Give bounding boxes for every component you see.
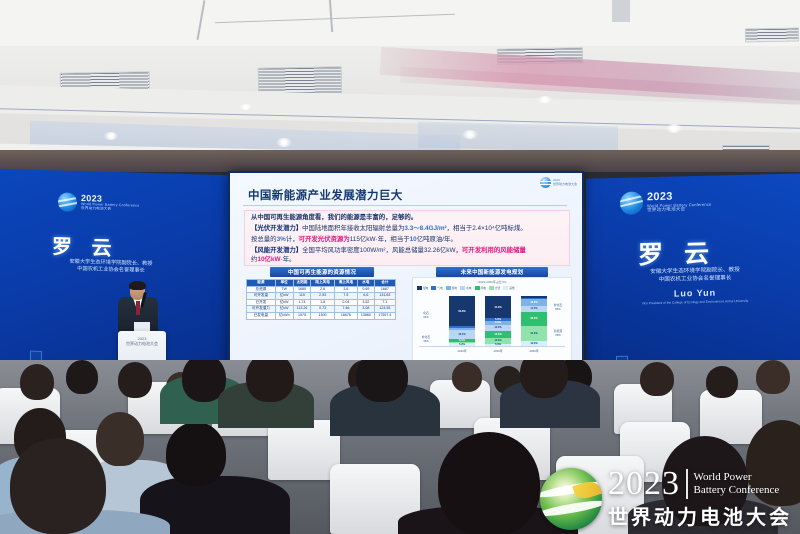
wind-value-1: 100W/m² (360, 247, 386, 254)
table-header-cell: 合计 (374, 280, 395, 287)
table-cell: 1.74 (293, 299, 311, 306)
table-cell: 1680 (293, 286, 311, 293)
energy-mix-chart: (2020-2060年占比/%) 煤电气电核电水电风电光伏其他 60.8%16.… (412, 277, 572, 363)
table-cell: 0.04 (334, 299, 357, 306)
pv2-value-3: 10 (410, 236, 417, 243)
chart-x-label: 2030年 (483, 349, 513, 353)
pv-text-a: 中国陆地面积年接收太阳辐射总量为 (302, 225, 404, 232)
table-row: 已发电量 亿kWh 1575 1500 16676 13860 17557.4 (247, 312, 396, 319)
chart-bar-segment: 44.0% (485, 296, 511, 318)
table-cell: 亿kWh (275, 312, 293, 319)
slide-corner-logo-text: 2023 世界动力电池大会 (553, 179, 577, 187)
left-screen-speaker-org: 安徽大学生态环境学院副院长、教授 中国农机工业协会名誉理事长 (16, 257, 206, 276)
audience-head (118, 362, 152, 398)
chart-legend-item: 光伏 (489, 286, 500, 290)
table-header-cell: 海上风电 (334, 280, 357, 287)
legend-label: 核电 (452, 286, 457, 290)
table-cell: TW (275, 286, 293, 293)
table-row: 可开发量 亿kW 115 2.53 7.5 6.6 131.63 (247, 293, 396, 300)
legend-swatch (446, 286, 451, 289)
table-cell: 已开发 (247, 299, 276, 306)
slide-pv-line-2: 按总量的3%计，可开发光伏资源为115亿kW·年，相当于10亿吨原油/年。 (251, 237, 457, 243)
pv2-text-c: ，相当于 (384, 236, 410, 243)
watermark-en-line-1: World Power (694, 471, 780, 484)
legend-swatch (417, 286, 422, 289)
table-cell: 2.53 (311, 293, 334, 300)
wind-value-2: 32.26亿kW (424, 247, 456, 254)
legend-swatch (489, 286, 494, 289)
left-screen-logo: 2023 World Power Battery Conference 世界动力… (58, 192, 139, 213)
table-row: 可开发潜力 亿kW 113.26 0.73 7.46 3.08 124.55 (247, 306, 396, 313)
audience-head (246, 360, 294, 402)
left-screen-logo-text: 2023 World Power Battery Conference 世界动力… (81, 194, 139, 213)
logo-year: 2023 (647, 191, 673, 204)
audience-head (438, 432, 540, 534)
table-header-cell: 陆上风电 (311, 280, 334, 287)
corner-logo-cn: 世界动力电池大会 (553, 183, 577, 187)
right-screen-speaker-name: 罗 云 (638, 234, 716, 272)
wind2-text-b: ·年。 (280, 256, 295, 263)
table-cell: 可开发量 (247, 293, 276, 300)
legend-label: 水电 (466, 286, 471, 290)
legend-label: 光伏 (495, 286, 500, 290)
downlight (276, 138, 292, 147)
table-cell: 0.69 (358, 286, 375, 293)
table-row: 总资源 TW 1680 2.6 3.6 0.69 1687 (247, 286, 396, 293)
table-cell: 3.08 (358, 306, 375, 313)
table-cell: 1500 (311, 312, 334, 319)
table-caption: 中国可再生能源的资源情况 (270, 267, 374, 277)
pv-value-2: 2.4×10⁴ (472, 225, 494, 232)
chart-x-label: 2020年 (447, 349, 477, 353)
table-cell: 1.8 (311, 299, 334, 306)
chart-legend-item: 煤电 (417, 286, 428, 290)
pv2-text-b: 计， (286, 236, 299, 243)
logo-cn: 世界动力电池大会 (647, 207, 711, 213)
pv2-text-d: 亿吨原油/年。 (417, 236, 457, 243)
chart-bar-segment: 14.0% (521, 299, 547, 306)
downlight (538, 96, 552, 103)
wind-label: 【风能开发潜力】 (251, 247, 302, 254)
globe-icon (58, 192, 77, 212)
chart-annotation-left-1: 化石64% (415, 312, 437, 319)
slide-lead-line: 从中国可再生能源角度看，我们的能源是丰富的，足够的。 (251, 215, 417, 221)
watermark-text: 2023 World Power Battery Conference 世界动力… (608, 468, 792, 530)
table-cell: 3.52 (358, 299, 375, 306)
presenter-hair (129, 281, 146, 290)
left-screen-speaker-name: 罗 云 (52, 230, 119, 261)
table-header-row: 能源 单位 太阳能 陆上风电 海上风电 水电 合计 (247, 280, 396, 287)
table-header-cell: 太阳能 (293, 280, 311, 287)
ceiling-hanger (612, 0, 630, 22)
chart-bar-segment: 10.0% (521, 341, 547, 346)
pv-text-c: 亿吨标煤。 (495, 225, 527, 232)
leaf-icon (572, 478, 602, 501)
legend-swatch (475, 286, 480, 289)
table-header-cell: 水电 (358, 280, 375, 287)
table-cell: 6.6 (358, 293, 375, 300)
legend-label: 气电 (437, 286, 442, 290)
right-screen-logo-text: 2023 World Power Battery Conference 世界动力… (647, 191, 711, 213)
table-cell: 总资源 (247, 286, 276, 293)
slide-wind-line-2: 约10亿kW·年。 (251, 257, 295, 263)
slide-title-rule (243, 205, 567, 206)
audience-head (96, 412, 144, 466)
wind2-value: 10亿kW (257, 256, 280, 263)
downlight (240, 104, 252, 110)
pv-value-1: 3.3～8.4GJ/m² (404, 225, 446, 232)
table-cell: 3.6 (334, 286, 357, 293)
legend-label: 其他 (509, 286, 514, 290)
table-cell: 亿kW (275, 293, 293, 300)
chart-bar-column: 60.8%16.4%6.1%5.2% (449, 296, 475, 346)
legend-label: 煤电 (423, 286, 428, 290)
table-cell: 17557.4 (374, 312, 395, 319)
ceiling-panel-top (0, 0, 800, 46)
table-cell: 16676 (334, 312, 357, 319)
table-cell: 13860 (358, 312, 375, 319)
projection-screen: 2023 世界动力电池大会 中国新能源产业发展潜力巨大 从中国可再生能源角度看，… (228, 171, 584, 391)
table-cell: 可开发潜力 (247, 306, 276, 313)
podium-cn: 世界动力电池大会 (120, 341, 164, 346)
conference-watermark: 2023 World Power Battery Conference 世界动力… (540, 468, 792, 530)
table-cell: 7.5 (334, 293, 357, 300)
chart-plot-area: 60.8%16.4%6.1%5.2%2020年44.0%5.0%8.0%13.0… (413, 294, 571, 354)
table-cell: 7.46 (334, 306, 357, 313)
chart-bar-column: 44.0%5.0%8.0%13.0%13.0%12.0%5.0% (485, 296, 511, 346)
pv2-value-2: 115亿kW·年 (350, 236, 384, 243)
right-screen-speaker-org: 安徽大学生态环境学院副院长、教授 中国农机工业协会名誉理事长 (600, 266, 790, 286)
watermark-year: 2023 (608, 468, 680, 500)
table-row: 已开发 亿kW 1.74 1.8 0.04 3.52 7.1 (247, 299, 396, 306)
presentation-slide: 2023 世界动力电池大会 中国新能源产业发展潜力巨大 从中国可再生能源角度看，… (230, 173, 582, 389)
downlight (104, 132, 118, 140)
chart-legend-item: 其他 (503, 286, 514, 290)
chart-bar-column: 14.0%11.5%28.0%31.0%10.0% (521, 296, 547, 346)
pv-label: 【光伏开发潜力】 (251, 225, 302, 232)
chart-bar-segment: 60.8% (449, 296, 475, 326)
table-cell: 2.6 (311, 286, 334, 293)
downlight (666, 124, 682, 133)
chart-subtitle: (2020-2060年占比/%) (478, 280, 507, 284)
chart-bar-segment: 28.0% (521, 312, 547, 326)
ceiling-vent (745, 28, 799, 43)
podium-logo-text: 2023 世界动力电池大会 (120, 336, 164, 346)
legend-label: 风电 (481, 286, 486, 290)
conference-hall-photo: 2023 World Power Battery Conference 世界动力… (0, 0, 800, 534)
table-cell: 已发电量 (247, 312, 276, 319)
watermark-en-line-2: Battery Conference (694, 484, 780, 497)
wind-text-b: ，风能总储量 (386, 247, 424, 254)
downlight (462, 130, 478, 139)
pv2-highlight: 可开发光伏资源为 (299, 236, 350, 243)
chart-bar-segment: 5.0% (485, 344, 511, 347)
renewable-resource-table: 能源 单位 太阳能 陆上风电 海上风电 水电 合计 总资源 TW 1680 2.… (246, 279, 396, 320)
table-cell: 1575 (293, 312, 311, 319)
chart-annotation-right-1: 非化石85% (546, 304, 570, 311)
table-cell: 124.55 (374, 306, 395, 313)
audience-head (10, 438, 106, 534)
table-header-cell: 单位 (275, 280, 293, 287)
audience-head (520, 360, 568, 398)
conference-globe-logo-icon (540, 468, 602, 530)
audience-head (756, 360, 790, 394)
globe-icon (620, 191, 643, 215)
lead-text: 从中国可再生能源角度看，我们的能源是丰富的，足够的。 (251, 214, 417, 221)
stage-wall-trim (0, 150, 800, 172)
chart-annotation-left-2: 非化石36% (415, 336, 437, 343)
chart-bar-segment: 31.0% (521, 326, 547, 342)
slide-corner-logo: 2023 世界动力电池大会 (540, 177, 577, 188)
slide-title: 中国新能源产业发展潜力巨大 (248, 187, 403, 203)
wind-text-a: 全国平均风功率密度 (302, 247, 360, 254)
chart-legend-item: 风电 (475, 286, 486, 290)
audience-head (20, 364, 54, 400)
pv2-text-a: 按总量的 (251, 236, 277, 243)
legend-swatch (503, 286, 508, 289)
legend-swatch (431, 286, 436, 289)
audience-head (452, 362, 482, 392)
table-cell: 115 (293, 293, 311, 300)
wind-highlight: ，可开发利用的风能储量 (456, 247, 526, 254)
chart-legend-item: 核电 (446, 286, 457, 290)
table-cell: 亿kW (275, 299, 293, 306)
legend-swatch (460, 286, 465, 289)
table-cell: 131.63 (374, 293, 395, 300)
watermark-cn: 世界动力电池大会 (608, 501, 792, 530)
table-cell: 0.73 (311, 306, 334, 313)
slide-pv-line-1: 【光伏开发潜力】中国陆地面积年接收太阳辐射总量为3.3～8.4GJ/m²，相当于… (251, 226, 527, 232)
watermark-en: World Power Battery Conference (694, 471, 780, 496)
audience-head (66, 360, 98, 394)
presenter-tie (136, 301, 140, 315)
audience-head (706, 366, 738, 398)
ceiling-skylight (418, 122, 618, 153)
table-cell: 亿kW (275, 306, 293, 313)
chart-legend-item: 水电 (460, 286, 471, 290)
chart-caption: 未来中国新能源发电规划 (436, 267, 548, 277)
audience-head (640, 362, 674, 396)
chart-legend: 煤电气电核电水电风电光伏其他 (417, 286, 567, 290)
watermark-top-row: 2023 World Power Battery Conference (608, 468, 792, 500)
slide-body-box: 从中国可再生能源角度看，我们的能源是丰富的，足够的。 【光伏开发潜力】中国陆地面… (244, 210, 570, 266)
table-cell: 1687 (374, 286, 395, 293)
table-cell: 113.26 (293, 306, 311, 313)
table-cell: 7.1 (374, 299, 395, 306)
chart-annotation-right-2: 新能源65% (546, 330, 570, 337)
pv-text-b: ，相当于 (447, 225, 473, 232)
audience-head (356, 360, 408, 402)
chart-bar-segment: 5.2% (449, 343, 475, 346)
chart-bar-segment: 16.4% (449, 330, 475, 338)
watermark-divider (686, 469, 688, 499)
slide-wind-line-1: 【风能开发潜力】全国平均风功率密度100W/m²，风能总储量32.26亿kW，可… (251, 248, 526, 254)
chart-x-label: 2060年 (519, 349, 549, 353)
table-header-cell: 能源 (247, 280, 276, 287)
chart-legend-item: 气电 (431, 286, 442, 290)
audience-head (166, 422, 226, 486)
pv2-value-1: 3% (277, 236, 286, 243)
globe-icon (540, 177, 551, 188)
right-screen-logo: 2023 World Power Battery Conference 世界动力… (620, 190, 711, 215)
